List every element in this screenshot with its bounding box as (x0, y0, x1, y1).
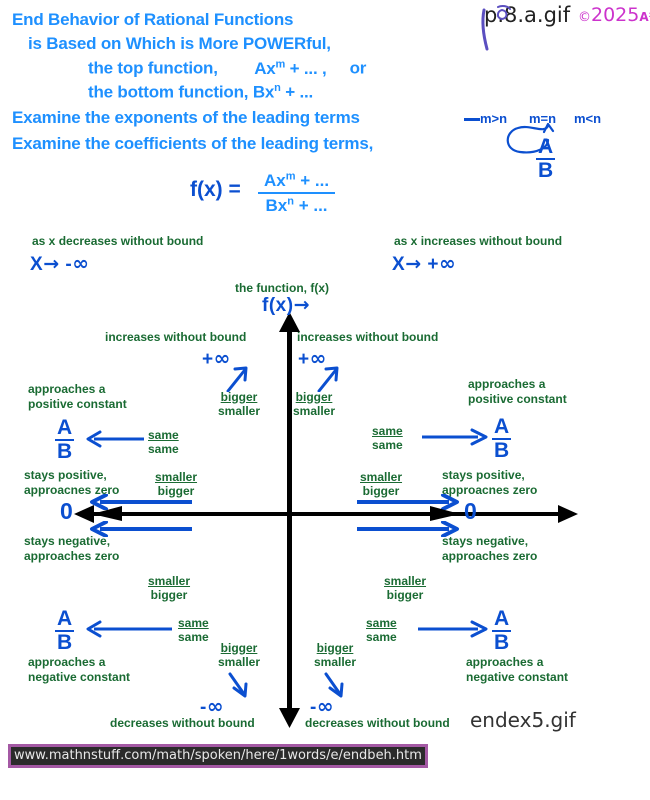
copyright-icon: © (578, 10, 591, 25)
top-function-expression: Axm + ... , (254, 59, 326, 78)
vertical-axis-down-arrowhead-icon (278, 706, 302, 728)
bottom-right-unbounded-ratio: bigger smaller (314, 641, 356, 669)
ratio-to-case-arrow-icon (500, 122, 570, 164)
top-left-constant-caption: approaches a positive constant (28, 382, 127, 412)
infinity-icon: ∞ (439, 251, 455, 275)
horizontal-axis-right-arrowhead-icon (556, 505, 578, 523)
bottom-left-constant-value: A B (55, 608, 74, 654)
top-right-same-arrow-icon (420, 428, 490, 446)
formula-denominator: Bxn + ... (258, 194, 335, 216)
formula-fraction: Axm + ... Bxn + ... (258, 170, 335, 217)
top-left-ratio: bigger smaller (218, 390, 260, 418)
middle-right-axis-arrowhead-icon (426, 506, 460, 522)
bottom-function-label: the bottom function, Bx (88, 83, 274, 102)
bottom-right-constant-value: A B (492, 608, 511, 654)
formula-numerator: Axm + ... (258, 170, 335, 194)
middle-left-negative-caption: stays negative, approaches zero (24, 534, 119, 564)
top-right-constant-caption: approaches a positive constant (468, 377, 567, 407)
x-decreases-caption: as x decreases without bound (32, 234, 203, 249)
exponent-connector-dash (464, 118, 480, 121)
or-connector: or (350, 59, 367, 78)
top-left-same-ratio: same same (148, 428, 179, 456)
x-increases-caption: as x increases without bound (394, 234, 562, 249)
top-left-unbounded-caption: increases without bound (105, 330, 246, 345)
top-left-constant-value: A B (55, 417, 74, 463)
bottom-left-ratio: smaller bigger (148, 574, 190, 602)
watermark-year: 2025 (591, 4, 639, 26)
examine-coefficients-line: Examine the coefficients of the leading … (12, 134, 373, 154)
title-subline-power: is Based on Which is More POWERful, (28, 34, 331, 54)
examine-exponents-line: Examine the exponents of the leading ter… (12, 108, 360, 128)
watermark-copyright: ©2025A² (578, 4, 650, 26)
top-left-up-arrow-icon (222, 366, 252, 392)
top-function-label: the top function, (88, 59, 218, 78)
watermark-suffix: A² (639, 10, 650, 24)
x-to-negative-infinity: X→ -∞ (30, 251, 88, 276)
top-left-ratio-denominator: smaller (218, 404, 260, 418)
top-right-same-ratio: same same (372, 424, 403, 452)
top-right-unbounded-caption: increases without bound (297, 330, 438, 345)
formula-lhs: f(x) = (190, 178, 241, 202)
horizontal-axis (88, 512, 562, 516)
top-right-up-arrow-icon (313, 366, 343, 392)
bottom-right-same-ratio: same same (366, 616, 397, 644)
middle-left-zero-value: 0 (60, 498, 73, 525)
bottom-left-constant-caption: approaches a negative constant (28, 655, 130, 685)
coefficient-ratio-denominator: B (536, 160, 555, 182)
bottom-right-ratio: smaller bigger (384, 574, 426, 602)
bottom-right-unbounded-caption: decreases without bound (305, 716, 450, 731)
bottom-function-tail: + ... (281, 83, 313, 102)
title-bottom-function-line: the bottom function, Bxn + ... (88, 82, 313, 103)
vertical-axis (287, 318, 292, 720)
bottom-left-same-ratio: same same (178, 616, 209, 644)
infinity-icon: ∞ (72, 251, 88, 275)
title-top-function-line: the top function, Axm + ... , or (88, 58, 366, 79)
bottom-left-unbounded-caption: decreases without bound (110, 716, 255, 731)
case-m-less-n: m<n (574, 111, 601, 126)
watermark-filename: p.8.a.gif (484, 3, 570, 27)
bottom-left-same-arrow-icon (84, 620, 176, 638)
middle-left-axis-arrowhead-icon (92, 506, 126, 522)
top-left-ratio-numerator: bigger (218, 390, 260, 404)
url-bar[interactable]: www.mathnstuff.com/math/spoken/here/1wor… (8, 744, 428, 768)
top-right-ratio: bigger smaller (293, 390, 335, 418)
page-title: End Behavior of Rational Functions (12, 10, 293, 30)
bottom-left-unbounded-ratio: bigger smaller (218, 641, 260, 669)
bottom-right-constant-caption: approaches a negative constant (466, 655, 568, 685)
top-exponent: m (276, 58, 286, 70)
image-filename-label: endex5.gif (470, 708, 576, 732)
bottom-right-same-arrow-icon (416, 620, 490, 638)
infinity-icon: ∞ (207, 694, 223, 718)
function-axis-label: f(x)→ (262, 294, 310, 317)
x-to-positive-infinity: X→ +∞ (392, 251, 455, 276)
middle-right-negative-caption: stays negative, approaches zero (442, 534, 537, 564)
top-right-constant-value: A B (492, 416, 511, 462)
coefficient-ratio-fraction: A B (536, 136, 555, 182)
url-text[interactable]: www.mathnstuff.com/math/spoken/here/1wor… (11, 747, 425, 765)
coefficient-ratio-numerator: A (536, 136, 555, 160)
bottom-left-down-arrow-icon (222, 672, 252, 698)
middle-right-zero-value: 0 (464, 498, 477, 525)
infinity-icon: ∞ (317, 694, 333, 718)
top-left-same-arrow-icon (84, 430, 146, 448)
